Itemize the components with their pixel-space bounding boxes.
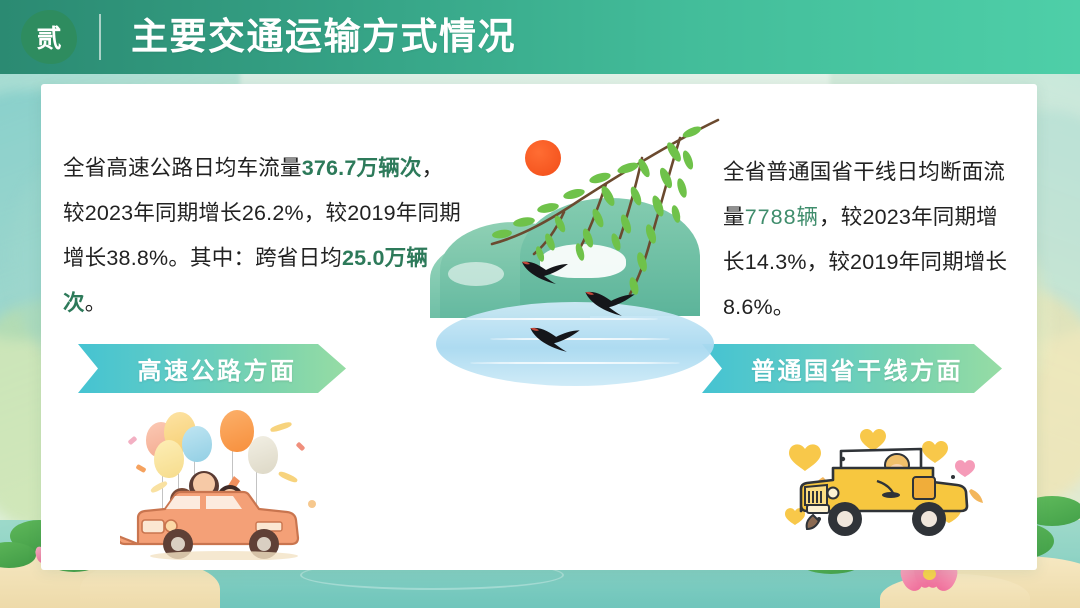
swallow-icon <box>526 324 582 354</box>
right-statistics-paragraph: 全省普通国省干线日均断面流量7788辆，较2023年同期增长14.3%，较201… <box>723 150 1013 330</box>
ribbon-national-provincial[interactable]: 普通国省干线方面 <box>702 344 1002 393</box>
confetti-icon <box>270 421 293 434</box>
left-highlight-1: 376.7万辆次 <box>302 156 422 180</box>
confetti-icon <box>127 436 137 446</box>
left-text-part-3: 。 <box>85 291 107 315</box>
infographic-page: 贰 主要交通运输方式情况 全省高速公路日均车流量376.7万辆次，较2023年同… <box>0 0 1080 608</box>
ribbon-highway[interactable]: 高速公路方面 <box>78 344 346 393</box>
orange-car-with-family-icon <box>120 456 340 560</box>
water-ripple-icon <box>470 362 680 364</box>
left-statistics-paragraph: 全省高速公路日均车流量376.7万辆次，较2023年同期增长26.2%，较201… <box>63 146 463 326</box>
swallow-icon <box>580 288 638 318</box>
ribbon-highway-label: 高速公路方面 <box>128 351 297 386</box>
willow-branch-icon <box>430 112 720 342</box>
swallow-icon <box>518 258 570 286</box>
page-title: 主要交通运输方式情况 <box>131 11 516 63</box>
center-illustration <box>430 112 720 392</box>
right-highlight-1: 7788辆 <box>745 205 819 229</box>
right-vehicle-illustration <box>775 415 1005 565</box>
section-number-badge: 贰 <box>21 10 77 64</box>
jeep-body <box>801 468 967 536</box>
left-vehicle-illustration <box>120 404 360 564</box>
page-header: 贰 主要交通运输方式情况 <box>0 0 1080 74</box>
ribbon-national-provincial-label: 普通国省干线方面 <box>741 351 963 386</box>
left-text-part-1: 全省高速公路日均车流量 <box>63 156 302 180</box>
yellow-jeep-with-couple-icon <box>793 439 983 555</box>
confetti-icon <box>296 442 306 452</box>
section-number-label: 贰 <box>36 19 61 55</box>
car-body <box>120 492 298 559</box>
header-divider <box>99 14 101 60</box>
